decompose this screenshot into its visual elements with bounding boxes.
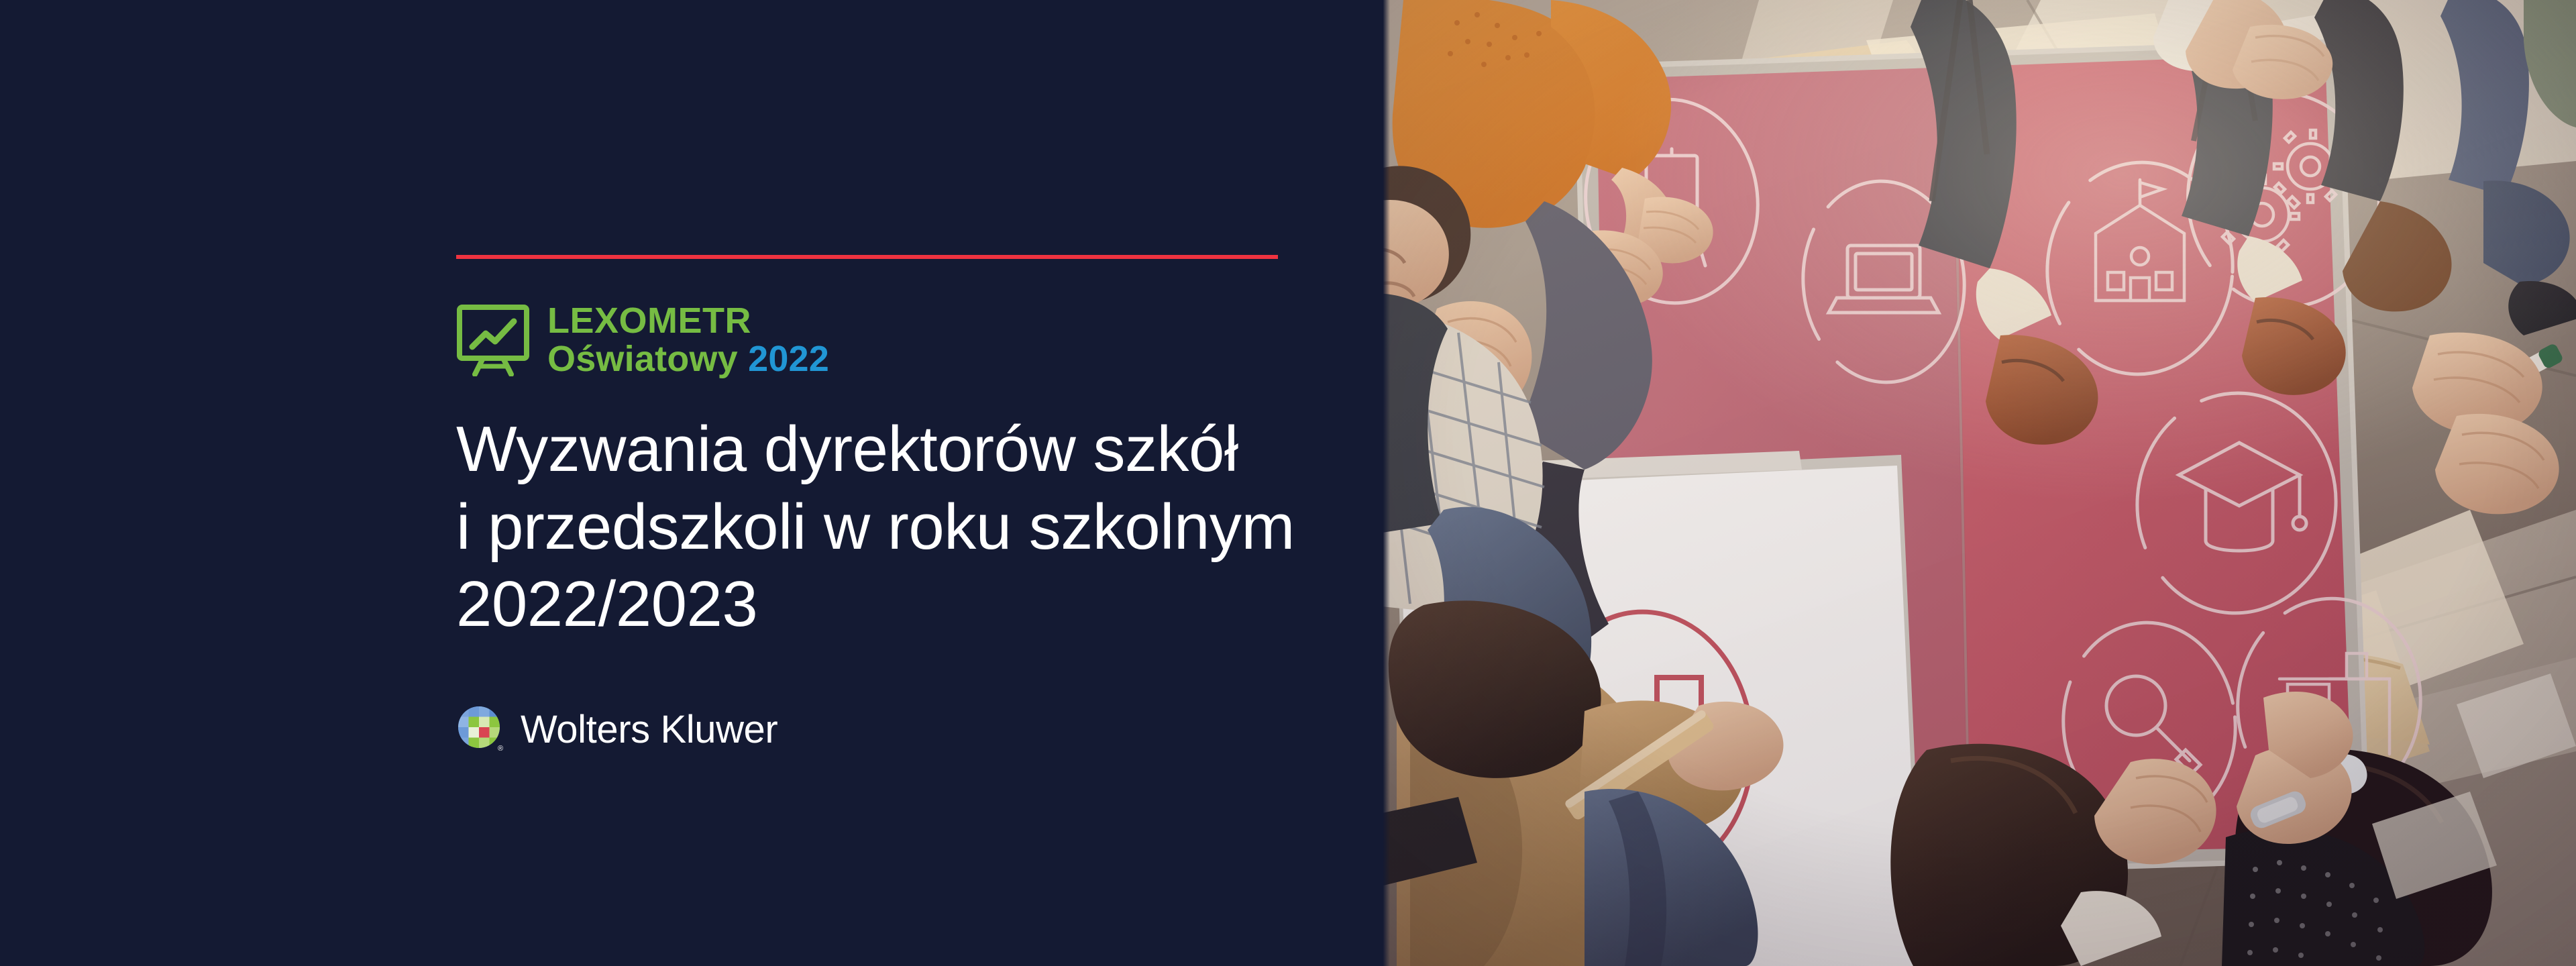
presentation-chart-easel-icon	[456, 304, 530, 376]
svg-text:®: ®	[498, 745, 503, 753]
page-title: Wyzwania dyrektorów szkół i przedszkoli …	[456, 411, 1301, 643]
publisher-logo: ® Wolters Kluwer	[456, 704, 1301, 754]
wolters-kluwer-mosaic-logo: ®	[456, 704, 506, 754]
hero-photo	[1383, 0, 2576, 966]
brand-line1: LEXOMETR	[547, 302, 829, 340]
content-block: LEXOMETR Oświatowy 2022 Wyzwania dyrekto…	[456, 255, 1301, 754]
page-title-line-1: Wyzwania dyrektorów szkół	[456, 411, 1301, 488]
brand-line2: Oświatowy 2022	[547, 340, 829, 378]
lexometr-brand-lockup: LEXOMETR Oświatowy 2022	[456, 302, 1301, 378]
page-title-line-3: 2022/2023	[456, 566, 1301, 643]
left-text-panel: LEXOMETR Oświatowy 2022 Wyzwania dyrekto…	[0, 0, 1383, 966]
publisher-name: Wolters Kluwer	[521, 707, 777, 752]
brand-line2-text: Oświatowy	[547, 339, 738, 379]
slide-root: LEXOMETR Oświatowy 2022 Wyzwania dyrekto…	[0, 0, 2576, 966]
brand-year: 2022	[748, 339, 829, 379]
page-title-line-2: i przedszkoli w roku szkolnym	[456, 488, 1301, 566]
accent-rule-divider	[456, 255, 1278, 259]
brand-wordmark: LEXOMETR Oświatowy 2022	[547, 302, 829, 378]
